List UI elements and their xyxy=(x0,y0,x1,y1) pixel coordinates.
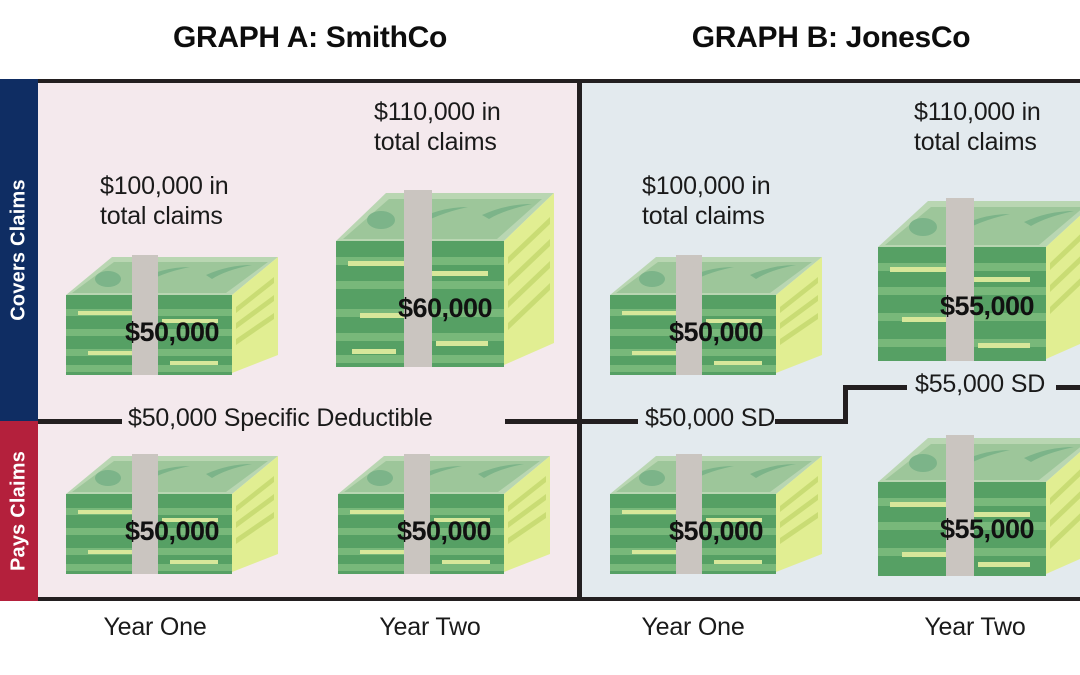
graph-b-year-two-pays-stack: $55,000 xyxy=(878,432,1080,582)
graph-a-year-one-pays-amount: $50,000 xyxy=(66,516,278,547)
pays-claims-label: Pays Claims xyxy=(8,451,31,571)
graph-b-year-two-covers-amount: $55,000 xyxy=(878,291,1080,322)
graph-b-deductible-step-upper xyxy=(843,385,907,390)
graph-b-year-two-deductible-label: $55,000 SD xyxy=(915,370,1045,399)
graph-a-year-one-label: Year One xyxy=(60,613,250,642)
graph-b-year-one-pays-stack: $50,000 xyxy=(610,448,822,580)
graph-a-year-two-covers-stack: $60,000 xyxy=(336,183,554,383)
graph-a-deductible-rule-left xyxy=(38,419,122,424)
graph-b-year-one-covers-amount: $50,000 xyxy=(610,317,822,348)
row-label-covers-claims: Covers Claims xyxy=(0,79,38,421)
graph-b-year-two-covers-stack: $55,000 xyxy=(878,193,1080,373)
graph-a-year-two-total-claims-caption: $110,000 in total claims xyxy=(374,97,501,157)
graph-a-year-one-total-claims-caption: $100,000 in total claims xyxy=(100,171,228,231)
graph-a-deductible-label: $50,000 Specific Deductible xyxy=(128,404,433,433)
graph-b-year-two-pays-amount: $55,000 xyxy=(878,514,1080,545)
graph-a-year-two-covers-amount: $60,000 xyxy=(336,293,554,324)
graph-b-year-one-label: Year One xyxy=(598,613,788,642)
graph-b-year-two-label: Year Two xyxy=(880,613,1070,642)
graph-b-deductible-step-riser xyxy=(843,385,848,424)
graph-a-year-two-label: Year Two xyxy=(335,613,525,642)
graph-b-title: GRAPH B: JonesCo xyxy=(582,21,1080,55)
graph-a-title: GRAPH A: SmithCo xyxy=(38,21,582,55)
graph-b-year-one-pays-amount: $50,000 xyxy=(610,516,822,547)
graph-b-year-one-covers-stack: $50,000 xyxy=(610,249,822,381)
graph-b-deductible-step-lower xyxy=(775,419,848,424)
graph-b-year-one-deductible-label: $50,000 SD xyxy=(645,404,775,433)
graph-a-panel: $100,000 in total claims $110,000 in tot… xyxy=(38,79,582,601)
graph-b-year-one-deductible-rule-left xyxy=(582,419,638,424)
graph-b-year-two-total-claims-caption: $110,000 in total claims xyxy=(914,97,1041,157)
infographic-stage: GRAPH A: SmithCo GRAPH B: JonesCo Covers… xyxy=(0,0,1080,675)
graph-a-deductible-rule-right xyxy=(505,419,585,424)
row-label-pays-claims: Pays Claims xyxy=(0,421,38,601)
graph-a-year-one-pays-stack: $50,000 xyxy=(66,448,278,580)
graph-a-year-two-pays-stack: $50,000 xyxy=(338,448,550,580)
graph-b-year-one-total-claims-caption: $100,000 in total claims xyxy=(642,171,770,231)
covers-claims-label: Covers Claims xyxy=(8,179,31,321)
graph-b-panel: $100,000 in total claims $110,000 in tot… xyxy=(582,79,1080,601)
graph-a-year-two-pays-amount: $50,000 xyxy=(338,516,550,547)
graph-a-year-one-covers-amount: $50,000 xyxy=(66,317,278,348)
graph-b-year-two-deductible-rule-right xyxy=(1056,385,1080,390)
graph-a-year-one-covers-stack: $50,000 xyxy=(66,249,278,381)
